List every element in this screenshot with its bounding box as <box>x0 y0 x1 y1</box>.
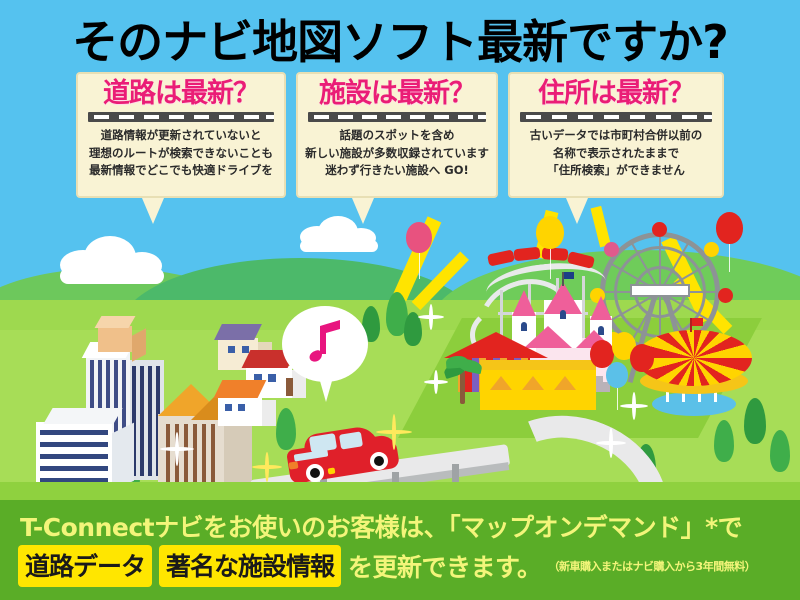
callout-line: 道路情報が更新されていないと <box>84 127 278 144</box>
tree-icon <box>714 420 734 462</box>
house-icon <box>218 378 280 426</box>
callout-box-roads: 道路は最新？ 道路情報が更新されていないと 理想のルートが検索できないことも 最… <box>76 72 286 198</box>
carousel-icon <box>636 330 752 418</box>
music-note-speech-bubble-icon <box>282 306 376 406</box>
tree-icon <box>744 398 766 444</box>
sparkle-icon <box>252 452 282 482</box>
callout-box-facilities: 施設は最新？ 話題のスポットを含め 新しい施設が多数収録されています 迷わず行き… <box>296 72 498 198</box>
callout-tail <box>352 198 374 224</box>
chip-road-data: 道路データ <box>18 545 152 587</box>
callout-line: 名称で表示されたままで <box>516 145 716 162</box>
tree-icon <box>770 430 790 472</box>
callout-line: 理想のルートが検索できないことも <box>84 145 278 162</box>
callout-line: 迷わず行きたい施設へ GO! <box>304 162 490 179</box>
apartment-building-icon <box>36 396 140 490</box>
banner-tail-text: を更新できます。 <box>348 548 542 584</box>
advertisement-poster: そのナビ地図ソフト最新ですか? 道路は最新？ 道路情報が更新されていないと 理想… <box>0 0 800 600</box>
palm-tree-icon <box>444 356 482 404</box>
banner-headline: T-Connectナビをお使いのお客様は、「マップオンデマンド」*で <box>20 508 742 544</box>
chip-facility-data: 著名な施設情報 <box>159 545 341 587</box>
car-wheel <box>370 452 388 470</box>
car-wheel <box>306 464 324 482</box>
callout-line: 「住所検索」ができません <box>516 162 716 179</box>
callout-line: 最新情報でどこでも快適ドライブを <box>84 162 278 179</box>
sparkle-icon <box>418 304 444 330</box>
sparkle-icon <box>620 392 648 420</box>
sparkle-icon <box>596 428 626 458</box>
road-dashed-line-icon <box>88 112 274 122</box>
bottom-banner: T-Connectナビをお使いのお客様は、「マップオンデマンド」*で 道路データ… <box>0 500 800 600</box>
callout-title: 施設は最新？ <box>304 80 490 108</box>
callout-tail <box>142 198 164 224</box>
sparkle-icon <box>424 370 448 394</box>
banner-subline: 道路データ 著名な施設情報 を更新できます。 （新車購入またはナビ購入から3年間… <box>18 545 755 587</box>
road-dashed-line-icon <box>520 112 712 122</box>
callout-line: 話題のスポットを含め <box>304 127 490 144</box>
sparkle-icon <box>376 414 412 450</box>
callout-line: 古いデータでは市町村合併以前の <box>516 127 716 144</box>
sparkle-icon <box>160 432 194 466</box>
callout-title: 住所は最新？ <box>516 80 716 108</box>
page-title: そのナビ地図ソフト最新ですか? <box>0 8 800 70</box>
banner-footnote: （新車購入またはナビ購入から3年間無料） <box>549 558 756 574</box>
callout-line: 新しい施設が多数収録されています <box>304 145 490 162</box>
music-note-icon <box>306 320 346 364</box>
callout-tail <box>566 198 588 224</box>
callout-box-address: 住所は最新？ 古いデータでは市町村合併以前の 名称で表示されたままで 「住所検索… <box>508 72 724 198</box>
road-dashed-line-icon <box>308 112 486 122</box>
park-building-yellow <box>480 360 596 410</box>
callout-title: 道路は最新？ <box>84 80 278 108</box>
